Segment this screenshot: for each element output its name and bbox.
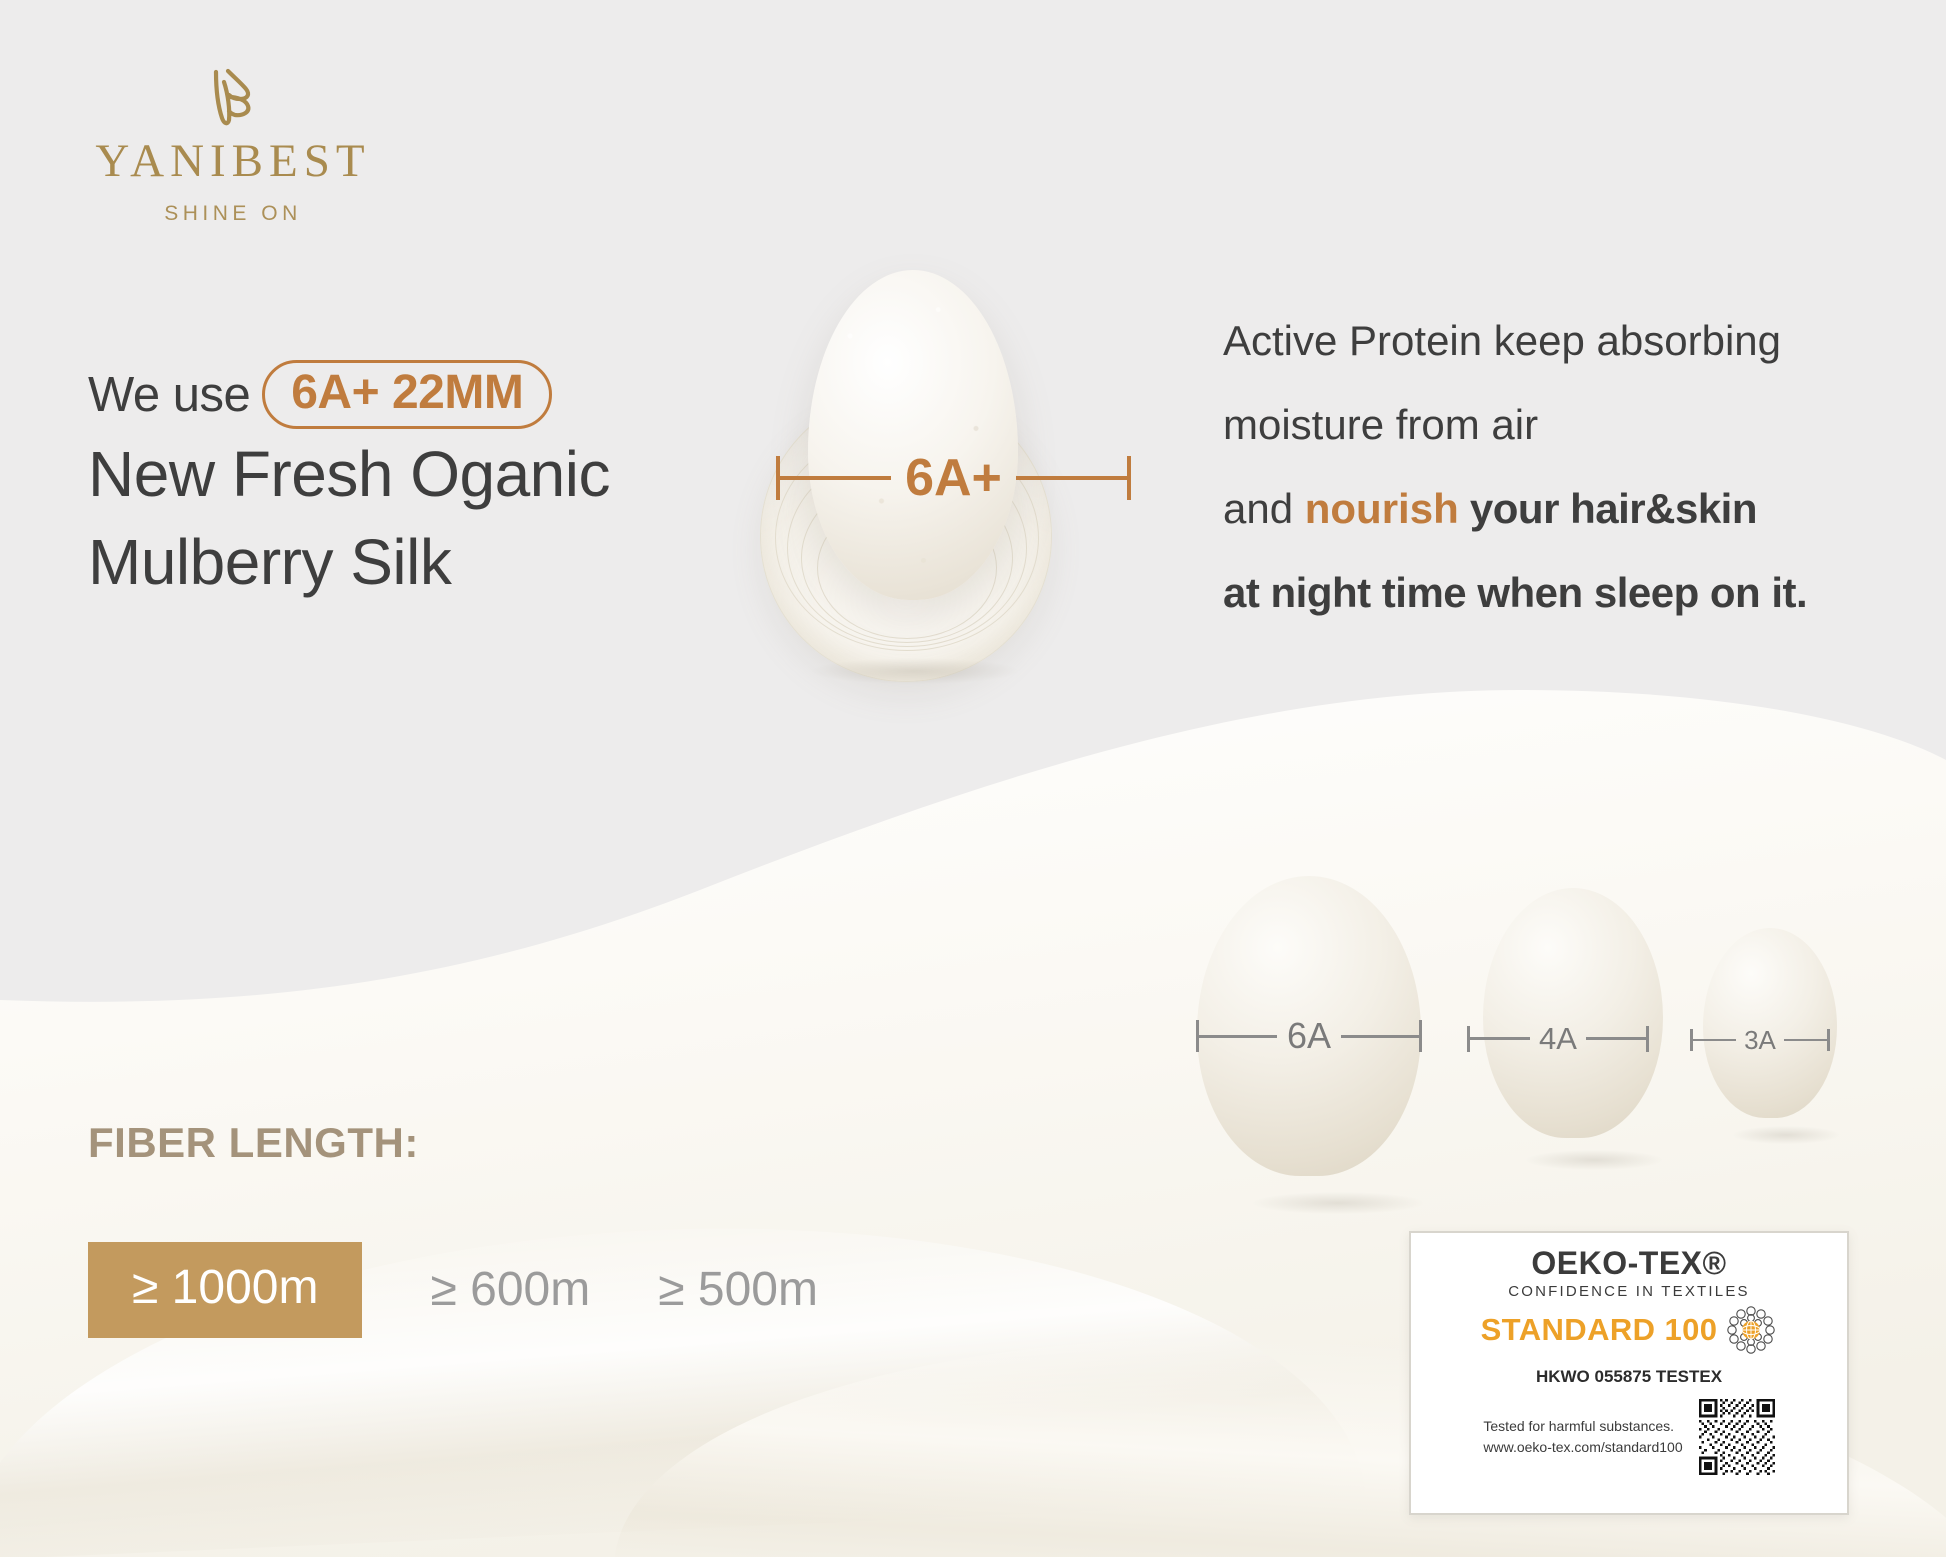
benefit-line-3-prefix: and: [1223, 485, 1305, 532]
grade-cocoon-4a-shadow: [1526, 1150, 1662, 1170]
grade-label: 6A: [1277, 1018, 1341, 1054]
certificate-subtitle: CONFIDENCE IN TEXTILES: [1411, 1284, 1847, 1299]
infographic-canvas: YANIBEST SHINE ON We use 6A+ 22MM New Fr…: [0, 0, 1946, 1557]
grade-cocoon-3a-shadow: [1733, 1126, 1839, 1144]
grade-dimension-6a: 6A: [1196, 1018, 1422, 1054]
fiber-option-selected[interactable]: ≥ 1000m: [88, 1242, 362, 1338]
fiber-length-options: ≥ 1000m ≥ 600m ≥ 500m: [88, 1242, 818, 1338]
dimension-cap-right: [1419, 1020, 1422, 1052]
cocoon-texture: [808, 270, 1018, 600]
headline-line-2: New Fresh Oganic: [88, 433, 808, 516]
certificate-footer-text: Tested for harmful substances. www.oeko-…: [1483, 1416, 1682, 1457]
brand-name: YANIBEST: [68, 138, 398, 185]
brand-tagline: SHINE ON: [68, 203, 398, 224]
grade-cocoon-3a: [1703, 928, 1837, 1118]
dimension-bar-left: [780, 476, 891, 480]
dimension-bar-left: [1199, 1035, 1277, 1038]
yb-monogram-icon: [202, 62, 264, 132]
dimension-cap-right: [1127, 456, 1131, 500]
benefit-line-3-suffix: your hair&skin: [1459, 485, 1757, 532]
certificate-footer: Tested for harmful substances. www.oeko-…: [1411, 1399, 1847, 1475]
dimension-bar-right: [1341, 1035, 1419, 1038]
cocoon-body: [808, 270, 1018, 600]
certificate-standard: STANDARD 100: [1481, 1314, 1718, 1345]
benefit-line-2: moisture from air: [1223, 404, 1923, 446]
benefit-line-3-accent: nourish: [1305, 485, 1459, 532]
benefit-line-1: Active Protein keep absorbing: [1223, 320, 1923, 362]
certificate-footer-line-1: Tested for harmful substances.: [1483, 1416, 1682, 1436]
certificate-id: HKWO 055875 TESTEX: [1411, 1368, 1847, 1385]
dimension-cap-right: [1827, 1029, 1830, 1051]
dimension-bar-left: [1470, 1037, 1530, 1040]
grade-cocoon-4a: [1483, 888, 1663, 1138]
dimension-bar-right: [1784, 1039, 1827, 1041]
fiber-option-500[interactable]: ≥ 500m: [658, 1266, 818, 1314]
grade-label: 4A: [1530, 1023, 1586, 1054]
grade-dimension-4a: 4A: [1467, 1023, 1649, 1054]
grade-dimension-3a: 3A: [1690, 1027, 1830, 1053]
headline-block: We use 6A+ 22MM New Fresh Oganic Mulberr…: [88, 360, 808, 604]
fiber-option-600[interactable]: ≥ 600m: [430, 1266, 590, 1314]
hero-dimension-indicator: 6A+: [776, 452, 1131, 504]
qr-code-icon[interactable]: [1699, 1399, 1775, 1475]
certificate-footer-line-2: www.oeko-tex.com/standard100: [1483, 1437, 1682, 1457]
cocoon-drop-shadow: [812, 658, 1018, 684]
grade-label: 3A: [1736, 1027, 1784, 1053]
certificate-brand: OEKO-TEX®: [1411, 1247, 1847, 1281]
dimension-bar-right: [1016, 476, 1127, 480]
grade-badge: 6A+ 22MM: [262, 360, 552, 429]
oeko-tex-certificate: OEKO-TEX® CONFIDENCE IN TEXTILES STANDAR…: [1409, 1231, 1849, 1515]
benefit-line-3: and nourish your hair&skin: [1223, 488, 1923, 530]
dimension-bar-left: [1693, 1039, 1736, 1041]
oeko-tex-flower-icon: [1725, 1304, 1777, 1356]
certificate-standard-row: STANDARD 100: [1411, 1304, 1847, 1356]
benefit-line-4: at night time when sleep on it.: [1223, 572, 1923, 614]
dimension-bar-right: [1586, 1037, 1646, 1040]
brand-logo: YANIBEST SHINE ON: [68, 62, 398, 224]
grade-cocoon-6a-shadow: [1253, 1192, 1423, 1214]
cocoon-body: [1703, 928, 1837, 1118]
headline-row-1: We use 6A+ 22MM: [88, 360, 808, 429]
dimension-cap-right: [1646, 1026, 1649, 1052]
headline-line-3: Mulberry Silk: [88, 521, 808, 604]
dimension-label: 6A+: [891, 452, 1016, 504]
benefit-paragraph: Active Protein keep absorbing moisture f…: [1223, 320, 1923, 656]
headline-prefix: We use: [88, 367, 250, 423]
fiber-length-title: FIBER LENGTH:: [88, 1122, 419, 1164]
cocoon-body: [1483, 888, 1663, 1138]
